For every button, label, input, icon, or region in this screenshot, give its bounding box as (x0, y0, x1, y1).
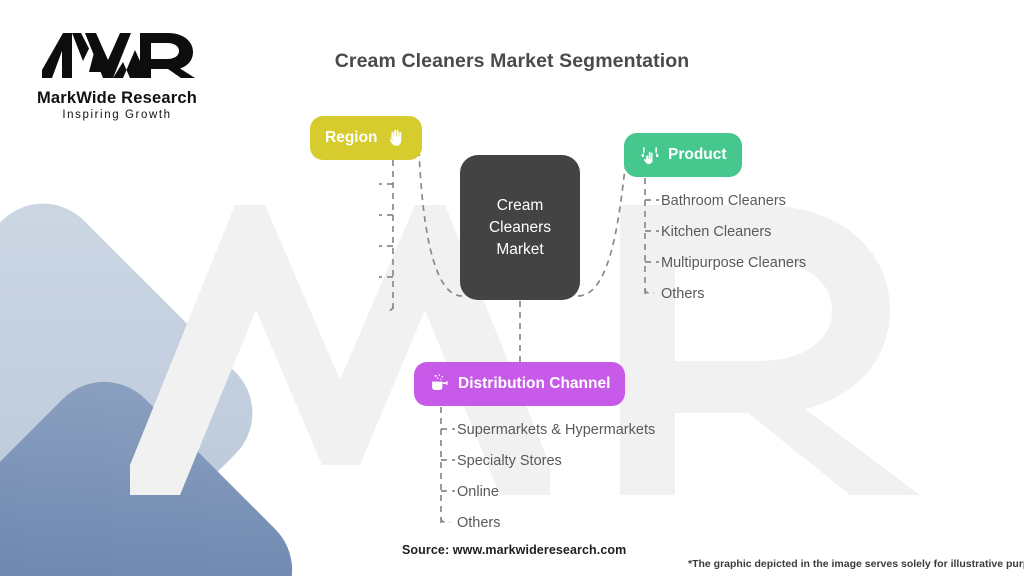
cleaning-bucket-icon (429, 373, 451, 395)
center-line-3: Market (496, 241, 543, 258)
diagram-canvas: MarkWide Research Inspiring Growth Cream… (0, 0, 1024, 576)
leaf-item[interactable]: Others (457, 516, 501, 531)
center-line-2: Cleaners (489, 219, 551, 236)
branch-label-product: Product (668, 146, 727, 164)
cleaning-glove-icon (385, 127, 407, 149)
branch-pill-region[interactable]: Region (310, 116, 422, 160)
distribution-stub-4 (441, 518, 450, 522)
leaf-item[interactable]: Multipurpose Cleaners (661, 256, 806, 271)
disclaimer-note: *The graphic depicted in the image serve… (688, 558, 1024, 570)
region-stub-5 (385, 306, 393, 310)
connector-center-region (418, 140, 462, 296)
branch-label-distribution-channel: Distribution Channel (458, 375, 610, 393)
brand-name: MarkWide Research (24, 89, 210, 108)
center-node[interactable]: Cream Cleaners Market (460, 155, 580, 300)
leaf-item[interactable]: Others (661, 287, 705, 302)
brand-tagline: Inspiring Growth (24, 109, 210, 121)
scrub-brush-icon (639, 144, 661, 166)
product-stub-4 (645, 289, 654, 293)
connector-center-product (578, 156, 628, 296)
center-line-1: Cream (497, 197, 544, 214)
branch-pill-product[interactable]: Product (624, 133, 742, 177)
leaf-item[interactable]: Supermarkets & Hypermarkets (457, 423, 655, 438)
center-node-label: Cream Cleaners Market (489, 195, 551, 261)
decorative-square-dark (0, 358, 316, 576)
leaf-item[interactable]: Bathroom Cleaners (661, 194, 786, 209)
brand-logo: MarkWide Research Inspiring Growth (24, 26, 210, 121)
source-note: Source: www.markwideresearch.com (402, 543, 626, 557)
branch-label-region: Region (325, 129, 378, 147)
leaf-item[interactable]: Specialty Stores (457, 454, 562, 469)
page-title: Cream Cleaners Market Segmentation (0, 50, 1024, 73)
branch-pill-distribution-channel[interactable]: Distribution Channel (414, 362, 625, 406)
leaf-item[interactable]: Kitchen Cleaners (661, 225, 771, 240)
decorative-square-light (0, 180, 276, 576)
leaf-item[interactable]: Online (457, 485, 499, 500)
